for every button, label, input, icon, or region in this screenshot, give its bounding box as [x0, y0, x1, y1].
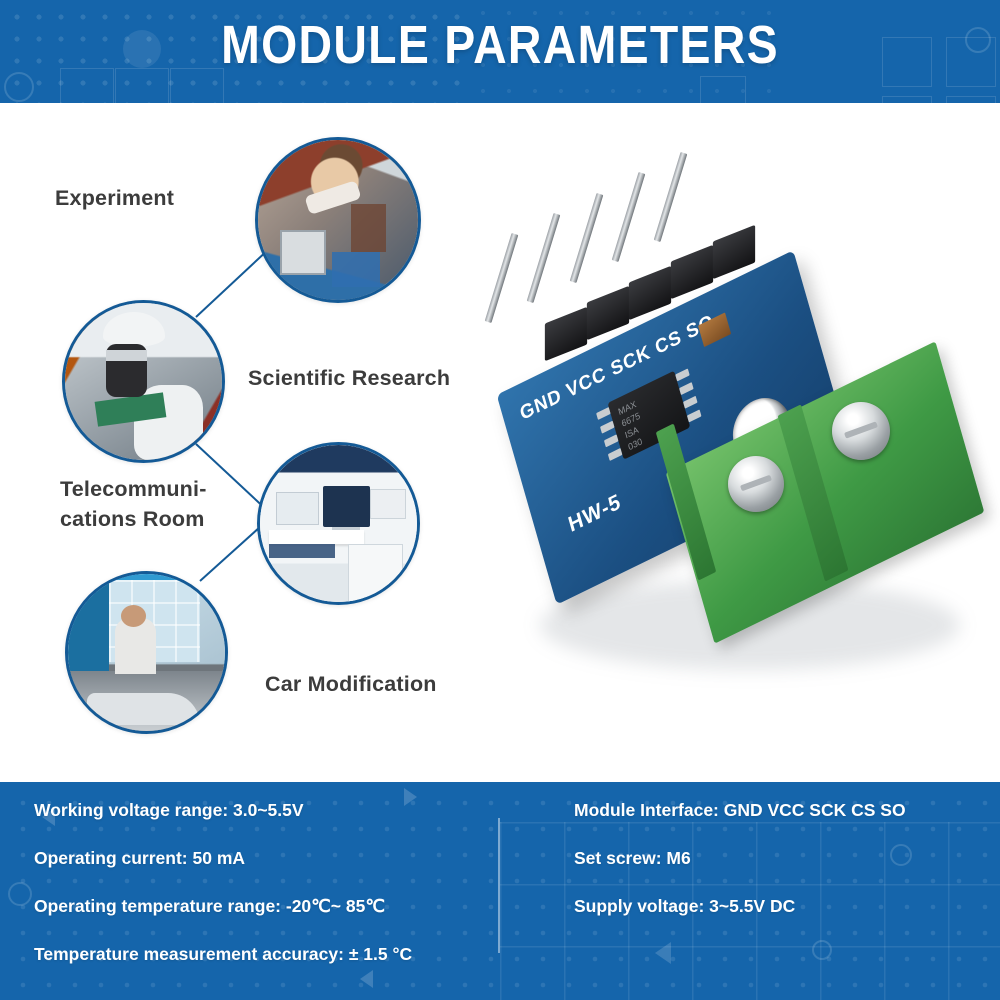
- header-banner: MODULE PARAMETERS: [0, 0, 1000, 103]
- chip-pad: [596, 407, 611, 420]
- silkscreen-board-name: HW-5: [566, 490, 624, 539]
- car-modification-photo: [68, 574, 225, 731]
- pin-header-pin-5: [654, 152, 688, 242]
- bubble-scientific-research[interactable]: [62, 300, 225, 463]
- banner-ring-decoration-left: [4, 72, 34, 102]
- bubble-telecommunications-room[interactable]: [257, 442, 420, 605]
- spec-item: Set screw: M6: [574, 848, 906, 869]
- banner-square-decoration-7: [946, 96, 996, 103]
- chip-pad: [608, 448, 623, 461]
- label-telecom-line2: cations Room: [60, 507, 205, 531]
- scientific-research-photo: [65, 303, 222, 460]
- pin-header-pin-2: [527, 213, 561, 303]
- chip-pad: [604, 434, 619, 447]
- spec-item: Operating current: 50 mA: [34, 848, 412, 869]
- telecommunications-room-photo: [260, 445, 417, 602]
- pin-header-pin-4: [612, 172, 646, 262]
- spec-right-column: Module Interface: GND VCC SCK CS SO Set …: [574, 800, 906, 944]
- page-title: MODULE PARAMETERS: [70, 14, 930, 76]
- banner-ring-decoration-right: [965, 27, 991, 53]
- banner-square-decoration-6: [882, 96, 932, 103]
- spec-item: Module Interface: GND VCC SCK CS SO: [574, 800, 906, 821]
- chip-pad: [675, 368, 690, 381]
- label-car-modification: Car Modification: [265, 669, 437, 699]
- infographic-page: MODULE PARAMETERS Experiment Scientific …: [0, 0, 1000, 1000]
- pin-header-pin-1: [485, 233, 519, 323]
- spec-item: Supply voltage: 3~5.5V DC: [574, 896, 906, 917]
- spec-item: Temperature measurement accuracy: ± 1.5 …: [34, 944, 412, 965]
- spec-ring-decoration-1: [8, 882, 32, 906]
- spec-column-divider: [498, 818, 500, 953]
- chip-pad: [687, 409, 702, 422]
- experiment-photo: [258, 140, 418, 300]
- label-scientific-research: Scientific Research: [248, 363, 450, 393]
- spec-item: Operating temperature range: -20℃~ 85℃: [34, 896, 412, 917]
- chip-pad: [679, 382, 694, 395]
- application-diagram: Experiment Scientific Research Telecommu…: [0, 103, 1000, 782]
- spec-item: Working voltage range: 3.0~5.5V: [34, 800, 412, 821]
- label-telecom-line1: Telecommuni-: [60, 477, 207, 501]
- product-photo: GND VCC SCK CS SO HW-5 MAX 6675 ISA 030: [470, 150, 1000, 710]
- spec-left-column: Working voltage range: 3.0~5.5V Operatin…: [34, 800, 412, 992]
- label-experiment: Experiment: [55, 183, 174, 213]
- pin-header-pin-3: [570, 193, 604, 283]
- bubble-experiment[interactable]: [255, 137, 421, 303]
- banner-square-decoration-8: [700, 76, 746, 103]
- chip-pad: [683, 396, 698, 409]
- bubble-car-modification[interactable]: [65, 571, 228, 734]
- label-telecommunications-room: Telecommuni- cations Room: [60, 474, 207, 534]
- spec-triangle-bottom-2: [655, 942, 671, 964]
- chip-pad: [600, 421, 615, 434]
